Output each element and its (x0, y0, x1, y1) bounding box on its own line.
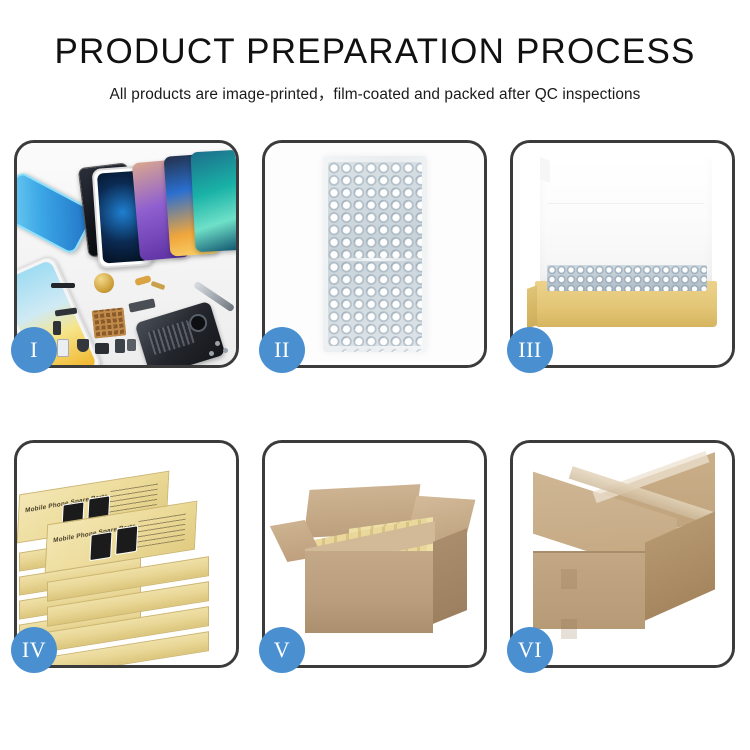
step-image-6 (513, 443, 732, 665)
small-bracket-part (53, 321, 61, 335)
step-panel-6: VI (510, 440, 735, 668)
button-part (115, 339, 125, 353)
box-print-window (89, 531, 112, 561)
box-print-text-lines (137, 512, 186, 548)
step-badge-2: II (259, 327, 305, 373)
step-panel-4: Mobile Phone Spare Parts Mobile Phone Sp… (14, 440, 239, 668)
carton-front-face (533, 551, 645, 629)
sealed-shipping-carton (533, 473, 717, 637)
carton-front-face (305, 551, 433, 633)
box-print-window (115, 525, 138, 555)
page-subtitle: All products are image-printed，film-coat… (0, 82, 750, 104)
step-badge-5: V (259, 627, 305, 673)
step-image-2 (265, 143, 484, 365)
screw-part (209, 351, 214, 356)
step-panel-2: II (262, 140, 487, 368)
step-image-5 (265, 443, 484, 665)
step-image-4: Mobile Phone Spare Parts Mobile Phone Sp… (17, 443, 236, 665)
cable-strip-part (128, 298, 155, 312)
step-badge-1: I (11, 327, 57, 373)
bubble-wrapped-items (547, 265, 707, 291)
connector-grid-part (92, 307, 127, 338)
step-panel-3: III (510, 140, 735, 368)
flex-cable-part (51, 283, 75, 288)
carton-handle-tab (561, 569, 577, 589)
carton-edge-seam (533, 551, 645, 553)
gold-flex-part (134, 275, 151, 286)
product-preparation-infographic: PRODUCT PREPARATION PROCESS All products… (0, 0, 750, 750)
vibrator-part (95, 343, 109, 354)
kraft-box-tray (535, 281, 717, 327)
gold-connector-part (151, 281, 166, 290)
speaker-module-part (94, 273, 114, 293)
sim-tray-part (57, 339, 69, 357)
open-shipping-carton (283, 477, 469, 637)
carton-handle-tab (561, 619, 577, 639)
step-badge-6: VI (507, 627, 553, 673)
bubble-pattern (328, 162, 422, 346)
bubble-wrap-bag (323, 156, 427, 352)
bag-seam (327, 258, 423, 261)
box-stack: Mobile Phone Spare Parts Mobile Phone Sp… (17, 451, 236, 663)
step-image-1 (17, 143, 236, 365)
step-badge-3: III (507, 327, 553, 373)
step-panel-5: V (262, 440, 487, 668)
phone-screen-teal (190, 150, 236, 252)
page-title: PRODUCT PREPARATION PROCESS (0, 34, 750, 71)
sensor-part (127, 339, 136, 351)
screw-part (215, 341, 220, 346)
step-badge-4: IV (11, 627, 57, 673)
step-panel-1: I (14, 140, 239, 368)
steps-grid: I II III (14, 140, 736, 668)
screw-part (223, 348, 228, 353)
header: PRODUCT PREPARATION PROCESS All products… (0, 0, 750, 104)
camera-module-part (77, 339, 89, 352)
carton-side-face (433, 528, 467, 624)
step-image-3 (513, 143, 732, 365)
